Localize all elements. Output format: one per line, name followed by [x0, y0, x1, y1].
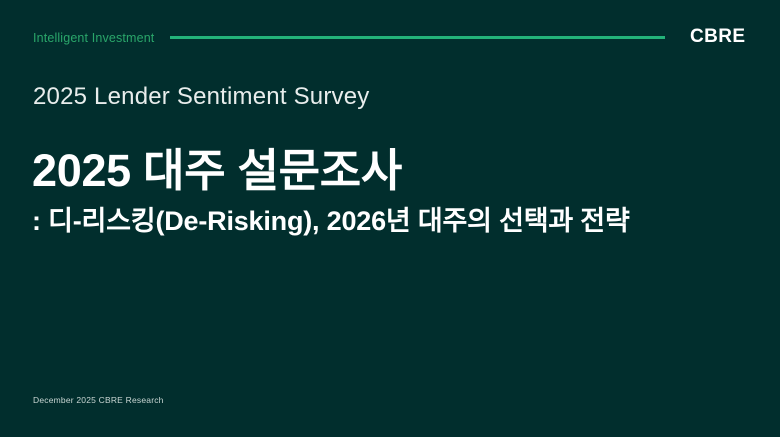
- eyebrow-label: Intelligent Investment: [33, 30, 154, 46]
- page-title: 2025 대주 설문조사: [32, 145, 402, 197]
- title-slide: Intelligent Investment CBRE 2025 Lender …: [0, 0, 780, 437]
- page-subtitle: : 디-리스킹(De-Risking), 2026년 대주의 선택과 전략: [32, 203, 630, 239]
- report-series-title: 2025 Lender Sentiment Survey: [33, 82, 369, 112]
- footer-credit: December 2025 CBRE Research: [33, 394, 164, 406]
- slide-header: Intelligent Investment CBRE: [0, 0, 780, 62]
- header-rule-divider: [170, 36, 665, 39]
- cbre-logo: CBRE: [690, 27, 745, 47]
